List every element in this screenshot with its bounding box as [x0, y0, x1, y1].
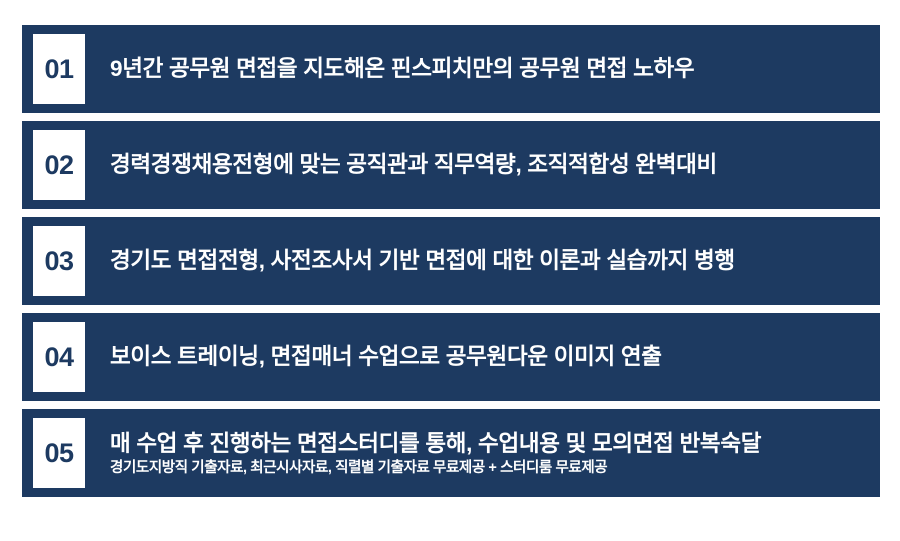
feature-title: 경력경쟁채용전형에 맞는 공직관과 직무역량, 조직적합성 완벽대비: [110, 151, 870, 179]
feature-text-group: 보이스 트레이닝, 면접매너 수업으로 공무원다운 이미지 연출: [110, 313, 870, 401]
feature-subtitle: 경기도지방직 기출자료, 최근시사자료, 직렬별 기출자료 무료제공 + 스터디…: [110, 460, 870, 477]
feature-row: 05 매 수업 후 진행하는 면접스터디를 통해, 수업내용 및 모의면접 반복…: [22, 409, 880, 497]
feature-text-group: 매 수업 후 진행하는 면접스터디를 통해, 수업내용 및 모의면접 반복숙달 …: [110, 409, 870, 497]
feature-row: 02 경력경쟁채용전형에 맞는 공직관과 직무역량, 조직적합성 완벽대비: [22, 121, 880, 209]
feature-list-board: 01 9년간 공무원 면접을 지도해온 핀스피치만의 공무원 면접 노하우 02…: [0, 0, 900, 541]
feature-text-group: 경력경쟁채용전형에 맞는 공직관과 직무역량, 조직적합성 완벽대비: [110, 121, 870, 209]
feature-number-label: 05: [44, 440, 73, 467]
feature-number-label: 01: [44, 56, 73, 83]
feature-title: 보이스 트레이닝, 면접매너 수업으로 공무원다운 이미지 연출: [110, 343, 870, 371]
feature-row: 04 보이스 트레이닝, 면접매너 수업으로 공무원다운 이미지 연출: [22, 313, 880, 401]
feature-text-group: 경기도 면접전형, 사전조사서 기반 면접에 대한 이론과 실습까지 병행: [110, 217, 870, 305]
feature-number-label: 04: [44, 344, 73, 371]
feature-row: 03 경기도 면접전형, 사전조사서 기반 면접에 대한 이론과 실습까지 병행: [22, 217, 880, 305]
feature-row: 01 9년간 공무원 면접을 지도해온 핀스피치만의 공무원 면접 노하우: [22, 25, 880, 113]
feature-number-label: 03: [44, 248, 73, 275]
feature-number-badge: 01: [33, 34, 85, 104]
feature-number-badge: 04: [33, 322, 85, 392]
feature-title: 9년간 공무원 면접을 지도해온 핀스피치만의 공무원 면접 노하우: [110, 55, 870, 83]
feature-number-badge: 02: [33, 130, 85, 200]
feature-title: 경기도 면접전형, 사전조사서 기반 면접에 대한 이론과 실습까지 병행: [110, 247, 870, 275]
feature-title: 매 수업 후 진행하는 면접스터디를 통해, 수업내용 및 모의면접 반복숙달: [110, 430, 870, 458]
feature-number-label: 02: [44, 152, 73, 179]
feature-number-badge: 05: [33, 418, 85, 488]
feature-number-badge: 03: [33, 226, 85, 296]
feature-text-group: 9년간 공무원 면접을 지도해온 핀스피치만의 공무원 면접 노하우: [110, 25, 870, 113]
